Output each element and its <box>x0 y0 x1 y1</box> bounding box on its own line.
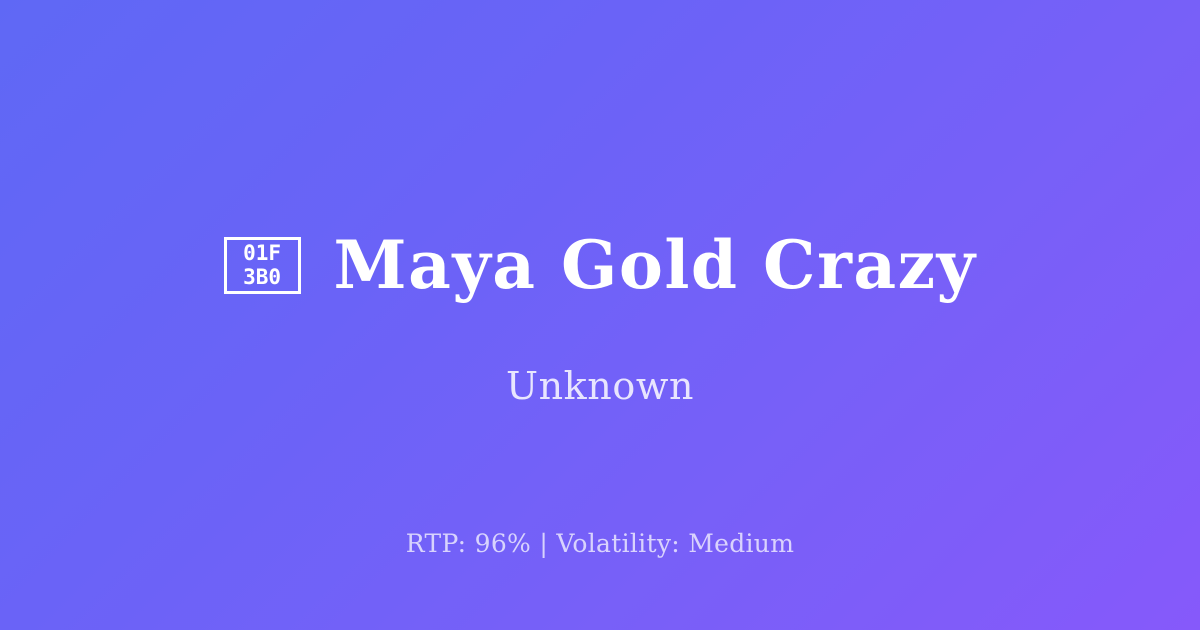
title-row: 01F 3B0 Maya Gold Crazy <box>0 232 1200 298</box>
tofu-codepoint-top: 01F <box>243 241 281 265</box>
game-provider: Unknown <box>0 364 1200 410</box>
page-title: Maya Gold Crazy <box>334 232 977 298</box>
tofu-codepoint-bottom: 3B0 <box>243 265 281 289</box>
game-meta-line: RTP: 96% | Volatility: Medium <box>0 528 1200 561</box>
slot-machine-emoji-icon: 01F 3B0 <box>224 237 301 294</box>
tofu-codepoint-box: 01F 3B0 <box>243 241 281 289</box>
game-preview-card: 01F 3B0 Maya Gold Crazy Unknown RTP: 96%… <box>0 0 1200 630</box>
